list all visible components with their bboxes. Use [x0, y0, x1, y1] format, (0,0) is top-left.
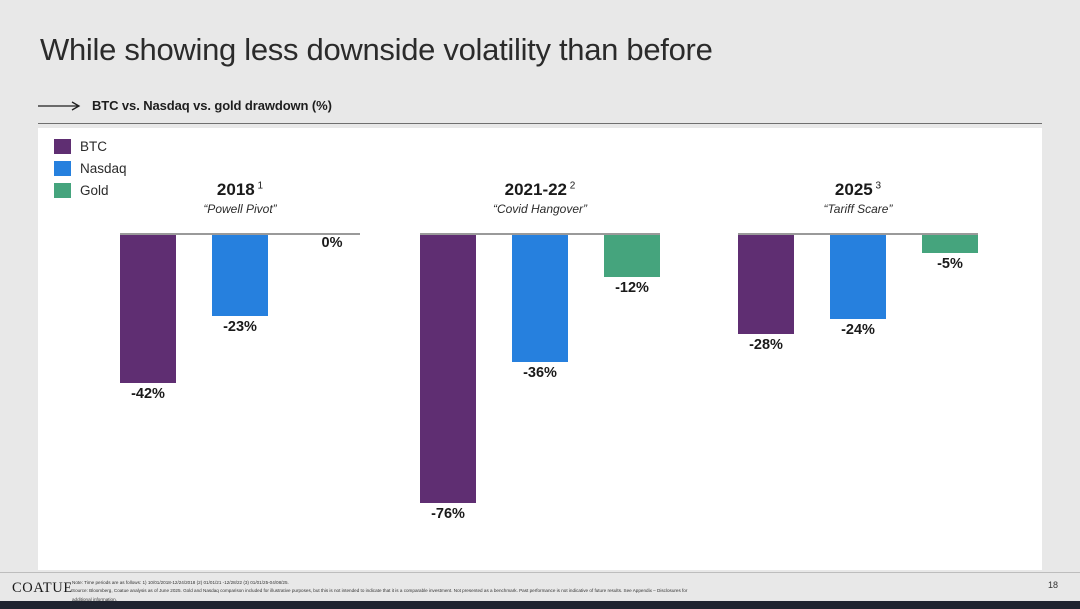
- bar-value-label: -12%: [615, 280, 649, 296]
- legend-item-nasdaq: Nasdaq: [54, 161, 127, 176]
- bar-column-gold: 0%: [304, 235, 360, 251]
- page-number: 18: [1048, 580, 1058, 590]
- legend-item-gold: Gold: [54, 183, 127, 198]
- legend-swatch-nasdaq: [54, 161, 71, 176]
- bar-gold[interactable]: [922, 235, 978, 253]
- bar-btc[interactable]: [420, 235, 476, 503]
- group-subtitle: “Tariff Scare”: [738, 202, 978, 216]
- bar-value-label: -5%: [937, 256, 963, 272]
- coatue-logo: COATUE: [12, 580, 73, 597]
- group-footnote-marker: 2: [567, 181, 575, 192]
- subhead-label: BTC vs. Nasdaq vs. gold drawdown (%): [92, 98, 332, 113]
- bar-set: -28%-24%-5%: [738, 235, 978, 353]
- chart-group-2025: 2025 3“Tariff Scare”-28%-24%-5%: [738, 128, 978, 570]
- bar-column-nasdaq: -36%: [512, 235, 568, 381]
- bar-set: -76%-36%-12%: [420, 235, 660, 522]
- group-subtitle: “Powell Pivot”: [120, 202, 360, 216]
- bar-column-btc: -42%: [120, 235, 176, 402]
- bar-nasdaq[interactable]: [512, 235, 568, 362]
- bar-value-label: -23%: [223, 319, 257, 335]
- group-header: 2025 3“Tariff Scare”: [738, 180, 978, 216]
- legend-label-btc: BTC: [80, 139, 107, 154]
- bar-value-label: -76%: [431, 506, 465, 522]
- footer-divider: [0, 572, 1080, 573]
- bar-nasdaq[interactable]: [212, 235, 268, 316]
- group-year: 2018 1: [120, 180, 360, 200]
- group-footnote-marker: 1: [255, 181, 263, 192]
- group-footnote-marker: 3: [873, 181, 881, 192]
- bar-gold[interactable]: [604, 235, 660, 277]
- legend-swatch-gold: [54, 183, 71, 198]
- group-subtitle: “Covid Hangover”: [420, 202, 660, 216]
- legend-label-gold: Gold: [80, 183, 109, 198]
- bar-value-label: -28%: [749, 337, 783, 353]
- page-title: While showing less downside volatility t…: [40, 32, 713, 68]
- disclaimer-line-2: Source: Bloomberg, Coatue analysis as of…: [72, 587, 1002, 595]
- header-divider: [38, 123, 1042, 124]
- disclaimer-line-1: Note: Time periods are as follows: 1) 10…: [72, 579, 1002, 587]
- bar-column-gold: -12%: [604, 235, 660, 296]
- bar-value-label: -36%: [523, 365, 557, 381]
- chart-group-2018: 2018 1“Powell Pivot”-42%-23%0%: [120, 128, 360, 570]
- bar-value-label: -42%: [131, 386, 165, 402]
- bar-column-nasdaq: -23%: [212, 235, 268, 335]
- bar-value-label: -24%: [841, 322, 875, 338]
- bar-nasdaq[interactable]: [830, 235, 886, 319]
- bar-btc[interactable]: [738, 235, 794, 334]
- legend-swatch-btc: [54, 139, 71, 154]
- group-header: 2018 1“Powell Pivot”: [120, 180, 360, 216]
- chart-group-2021-22: 2021-22 2“Covid Hangover”-76%-36%-12%: [420, 128, 660, 570]
- chart-legend: BTC Nasdaq Gold: [54, 139, 127, 205]
- bar-column-btc: -76%: [420, 235, 476, 522]
- bar-value-label: 0%: [322, 235, 343, 251]
- group-header: 2021-22 2“Covid Hangover”: [420, 180, 660, 216]
- group-year: 2025 3: [738, 180, 978, 200]
- slide: While showing less downside volatility t…: [0, 0, 1080, 609]
- long-right-arrow-icon: [38, 101, 82, 111]
- subhead-row: BTC vs. Nasdaq vs. gold drawdown (%): [38, 98, 332, 113]
- group-year: 2021-22 2: [420, 180, 660, 200]
- slide-left-edge: [0, 0, 10, 601]
- chart-panel: BTC Nasdaq Gold 2018 1“Powell Pivot”-42%…: [38, 128, 1042, 570]
- legend-item-btc: BTC: [54, 139, 127, 154]
- bar-set: -42%-23%0%: [120, 235, 360, 402]
- bar-column-gold: -5%: [922, 235, 978, 272]
- bar-column-btc: -28%: [738, 235, 794, 353]
- bar-column-nasdaq: -24%: [830, 235, 886, 338]
- bottom-bar: [0, 601, 1080, 609]
- bar-btc[interactable]: [120, 235, 176, 383]
